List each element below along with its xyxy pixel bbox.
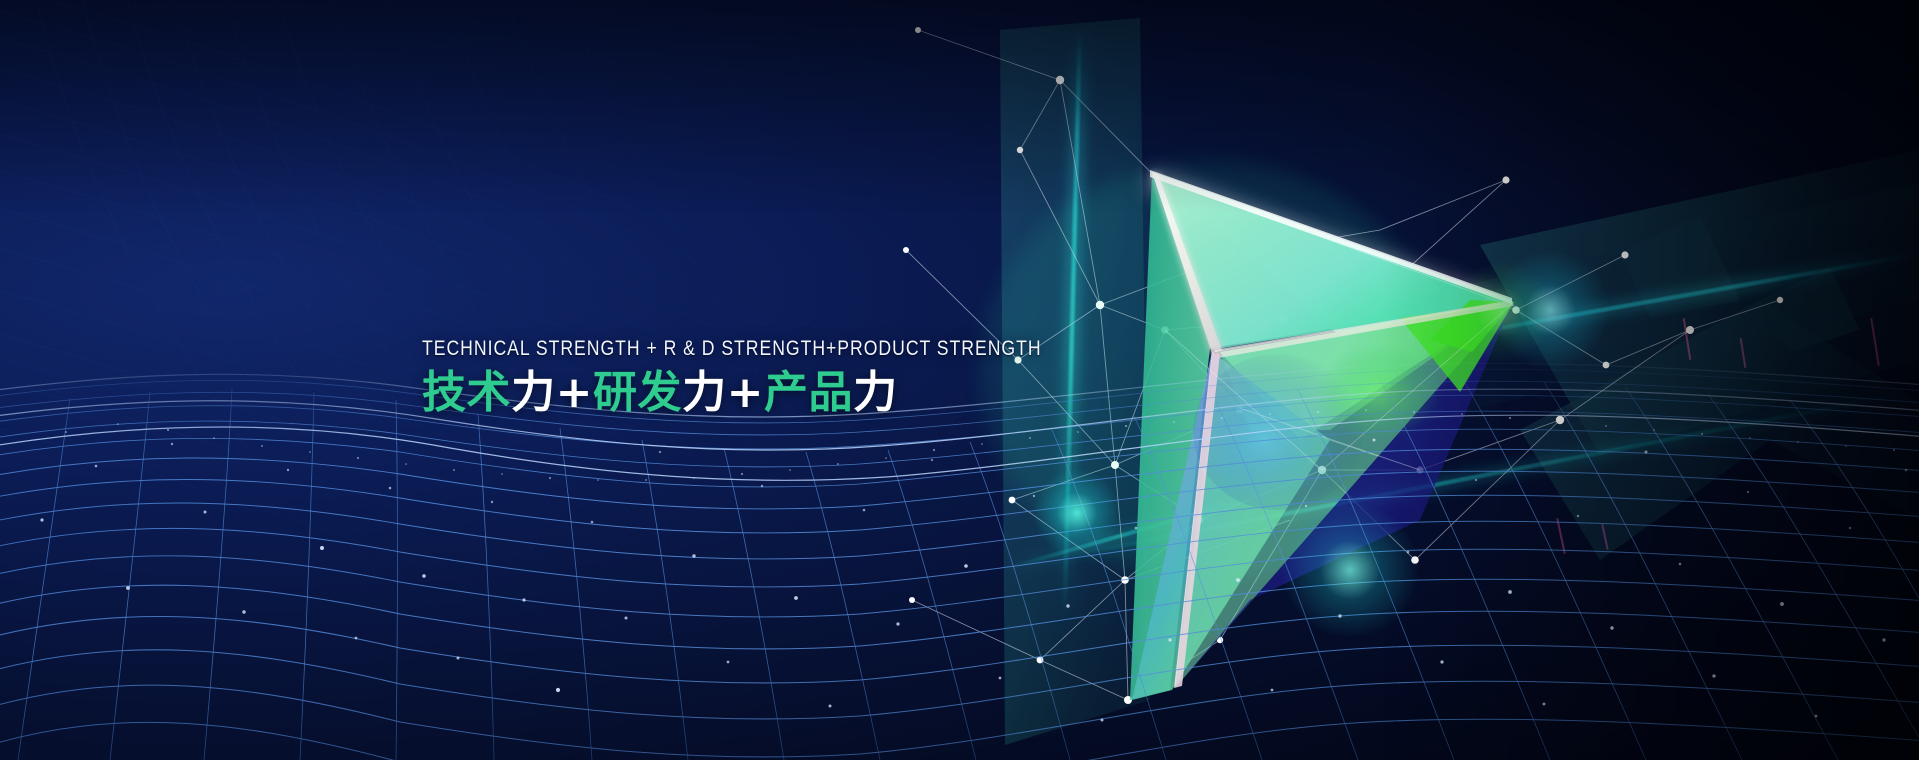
- slogan-segment-0: 技术: [422, 367, 511, 418]
- banner-hero: TECHNICAL STRENGTH + R & D STRENGTH+PROD…: [0, 0, 1919, 760]
- flare-right-upper: [1490, 250, 1610, 370]
- headline-block: TECHNICAL STRENGTH + R & D STRENGTH+PROD…: [422, 338, 1322, 416]
- slogan-segment-4: 力: [682, 367, 727, 418]
- slogan-segment-6: 产品: [764, 367, 853, 418]
- slogan-segment-1: 力: [511, 367, 556, 418]
- slogan-segment-5: +: [727, 367, 764, 418]
- slogan-segment-3: 研发: [593, 367, 682, 418]
- eyebrow-english-text: TECHNICAL STRENGTH + R & D STRENGTH+PROD…: [422, 338, 1160, 360]
- slogan-segment-2: +: [556, 367, 593, 418]
- flare-left-beam: [1032, 468, 1122, 558]
- slogan-chinese-text: 技术力+研发力+产品力: [422, 369, 1322, 417]
- flare-prism-tip: [1452, 262, 1552, 362]
- slogan-segment-7: 力: [853, 367, 898, 418]
- flare-bottom-center: [1280, 500, 1420, 640]
